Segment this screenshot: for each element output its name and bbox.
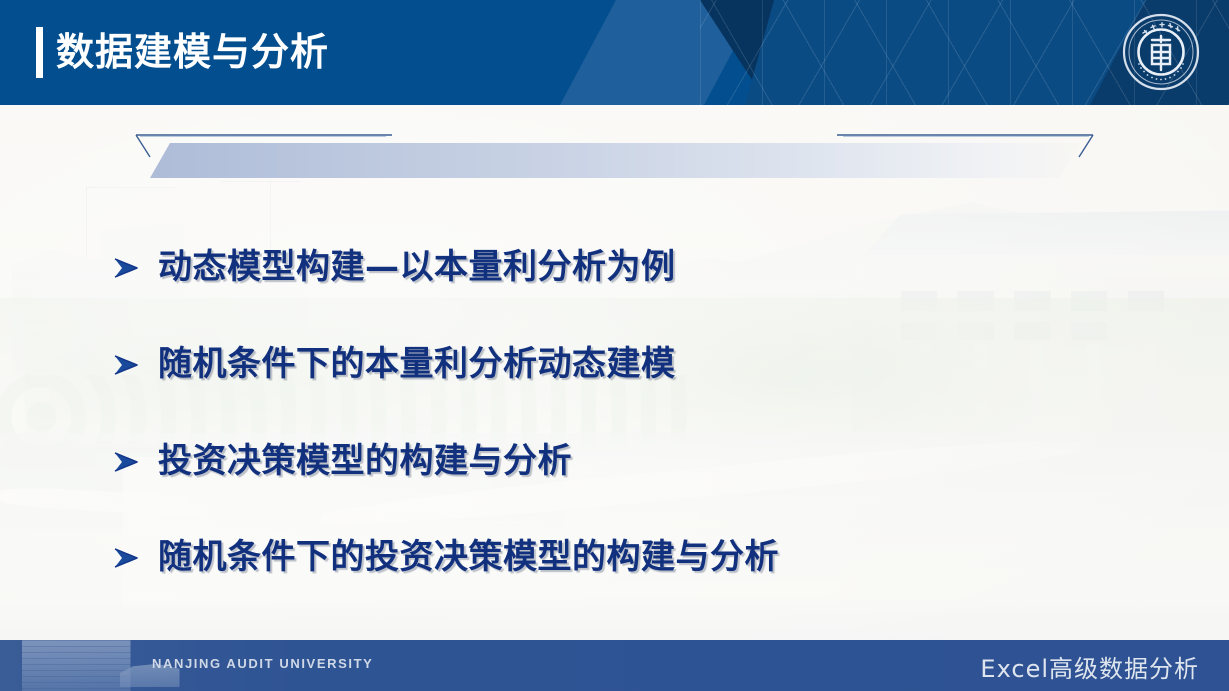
list-item-label: 随机条件下的投资决策模型的构建与分析 <box>158 536 779 578</box>
arrow-bullet-icon <box>112 253 140 283</box>
footer-course-title: Excel高级数据分析 <box>980 649 1199 684</box>
list-item[interactable]: 投资决策模型的构建与分析 <box>112 440 572 482</box>
arrow-bullet-icon <box>112 543 140 573</box>
slide-footer: NANJING AUDIT UNIVERSITY Excel高级数据分析 <box>0 640 1229 691</box>
bullet-list: 动态模型构建—以本量利分析为例 随机条件下的本量利分析动态建模 投资决策模型的构… <box>0 0 1229 691</box>
list-item-label: 动态模型构建—以本量利分析为例 <box>158 246 676 288</box>
list-item-label: 随机条件下的本量利分析动态建模 <box>158 343 676 385</box>
list-item[interactable]: 随机条件下的投资决策模型的构建与分析 <box>112 536 779 578</box>
list-item[interactable]: 随机条件下的本量利分析动态建模 <box>112 343 676 385</box>
arrow-bullet-icon <box>112 350 140 380</box>
watermark-tower-floors <box>22 640 131 691</box>
arrow-bullet-icon <box>112 447 140 477</box>
list-item-label: 投资决策模型的构建与分析 <box>158 440 572 482</box>
footer-university-name: NANJING AUDIT UNIVERSITY <box>152 656 373 671</box>
slide-root: 数据建模与分析 <box>0 0 1229 691</box>
list-item[interactable]: 动态模型构建—以本量利分析为例 <box>112 246 676 288</box>
